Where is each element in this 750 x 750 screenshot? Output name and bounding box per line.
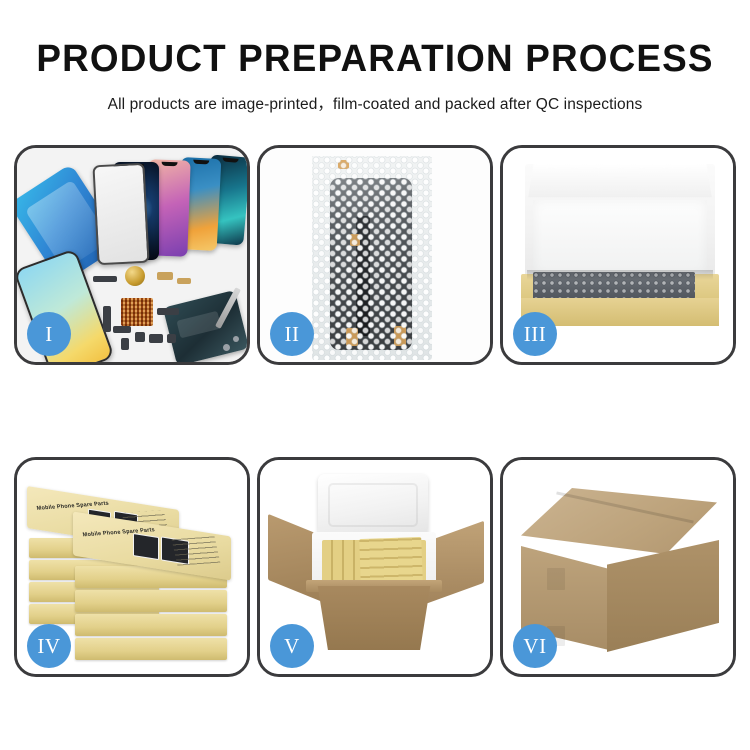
page-subtitle: All products are image-printed，film-coat… [0, 92, 750, 114]
process-step-panel-1[interactable]: I [14, 145, 250, 365]
process-step-panel-6[interactable]: VI [500, 457, 736, 677]
page-header: PRODUCT PREPARATION PROCESS All products… [0, 0, 750, 114]
process-step-panel-2[interactable]: II [257, 145, 493, 365]
step-badge-5: V [270, 624, 314, 668]
speaker-component-icon [125, 266, 145, 286]
copper-grid-component-icon [121, 298, 153, 326]
step-badge-6: VI [513, 624, 557, 668]
process-panel-grid: I II III [14, 145, 736, 677]
bubble-wrap-bag-icon [312, 156, 432, 360]
step-badge-1: I [27, 312, 71, 356]
process-step-panel-4[interactable]: Mobile Phone Spare Parts Mobile Phone Sp… [14, 457, 250, 677]
styrofoam-lid-icon [318, 474, 428, 536]
page-title: PRODUCT PREPARATION PROCESS [11, 40, 739, 78]
step-badge-2: II [270, 312, 314, 356]
phone-screen-1 [92, 163, 149, 266]
process-step-panel-5[interactable]: V [257, 457, 493, 677]
step-badge-4: IV [27, 624, 71, 668]
step-badge-3: III [513, 312, 557, 356]
carton-front-icon [310, 586, 438, 650]
packed-yellow-boxes-secondary-icon [359, 537, 423, 585]
process-step-panel-3[interactable]: III [500, 145, 736, 365]
